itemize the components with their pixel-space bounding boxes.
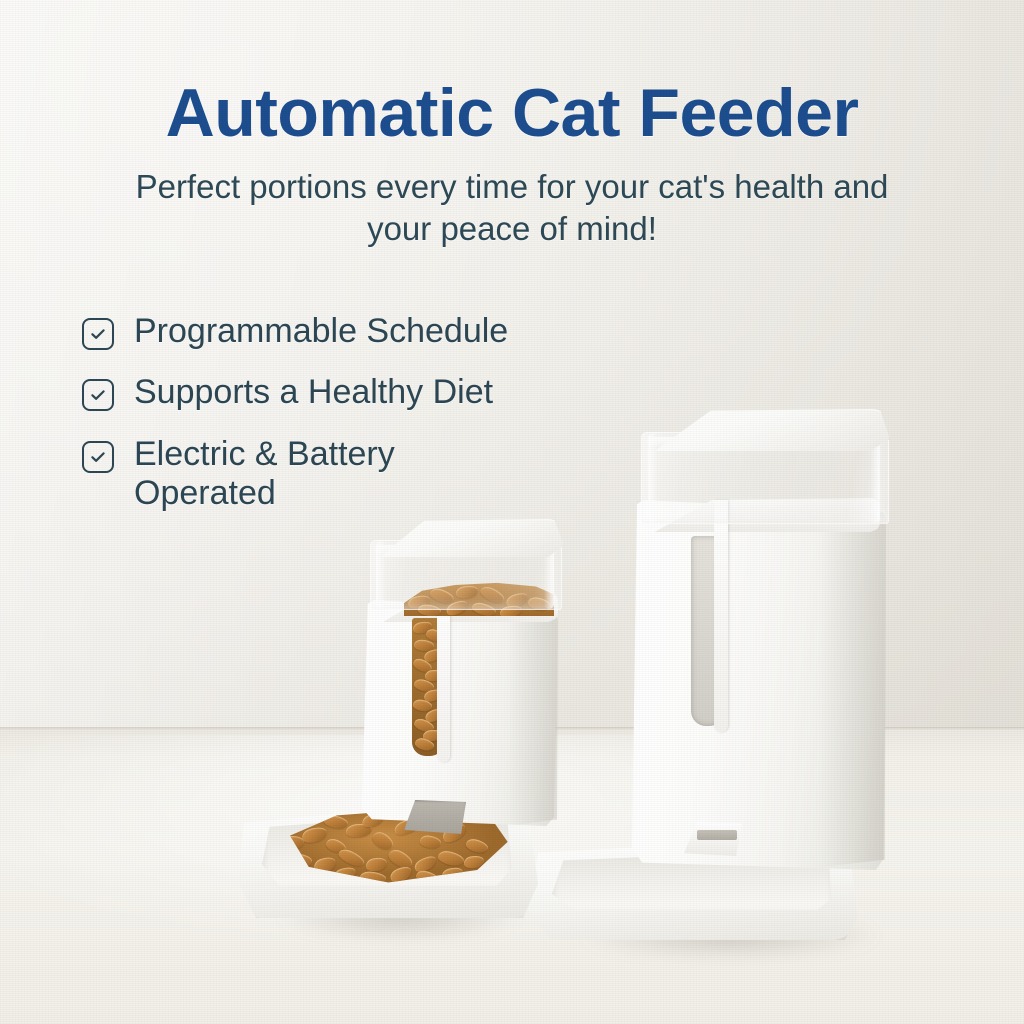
feature-item-programmable-schedule: Programmable Schedule	[82, 312, 642, 351]
feature-list: Programmable Schedule Supports a Healthy…	[82, 312, 642, 536]
large-feeder-body-shading	[820, 505, 886, 867]
large-feeder-window-divider	[714, 500, 728, 732]
feature-item-healthy-diet: Supports a Healthy Diet	[82, 373, 642, 412]
small-feeder-window-divider	[437, 600, 450, 762]
page-subtitle: Perfect portions every time for your cat…	[112, 166, 912, 249]
checkbox-check-icon	[82, 379, 114, 411]
large-feeder-hopper-gloss	[648, 433, 658, 523]
product-marketing-poster: Automatic Cat Feeder Perfect portions ev…	[0, 0, 1024, 1024]
feature-label: Supports a Healthy Diet	[134, 373, 493, 412]
small-feeder-hopper-gloss	[376, 541, 386, 609]
feature-label: Programmable Schedule	[134, 312, 508, 351]
feature-label: Electric & Battery Operated	[134, 435, 395, 514]
checkbox-check-icon	[82, 318, 114, 350]
small-feeder-body-shading	[508, 606, 558, 826]
small-feeder-dispensing-outlet	[404, 800, 466, 834]
feature-item-electric-battery: Electric & Battery Operated	[82, 435, 642, 514]
page-title: Automatic Cat Feeder	[0, 74, 1024, 152]
checkbox-check-icon	[82, 441, 114, 473]
large-feeder-chute-opening	[697, 830, 737, 840]
